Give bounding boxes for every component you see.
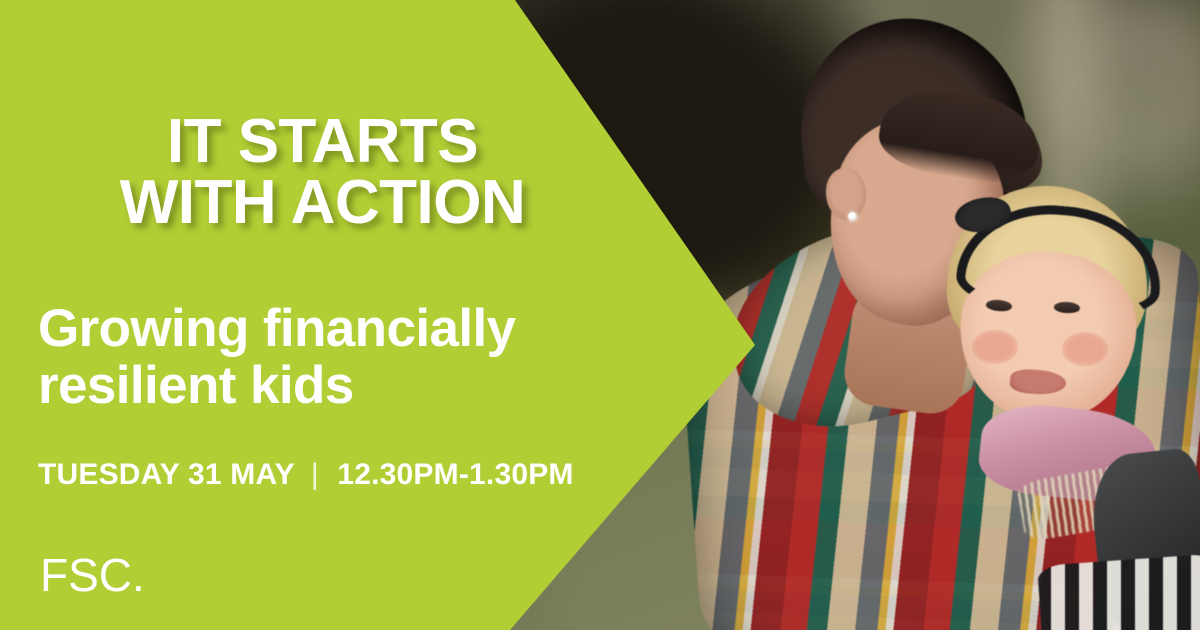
banner-content: IT STARTS WITH ACTION Growing financiall… (0, 0, 645, 630)
headline-line-2: WITH ACTION (0, 173, 645, 234)
event-title: Growing financially resilient kids (38, 300, 638, 414)
campaign-headline: IT STARTS WITH ACTION (0, 112, 645, 234)
event-datetime: TUESDAY 31 MAY | 12.30PM-1.30PM (38, 458, 574, 492)
woman-earring (848, 212, 857, 221)
baby-cheek-left (972, 330, 1018, 364)
headline-line-1: IT STARTS (167, 107, 478, 176)
event-title-line-2: resilient kids (38, 357, 638, 414)
fsc-logo: FSC. (40, 548, 145, 602)
promo-banner: IT STARTS WITH ACTION Growing financiall… (0, 0, 1200, 630)
event-date: TUESDAY 31 MAY (38, 458, 294, 491)
event-title-line-1: Growing financially (38, 299, 515, 358)
datetime-separator: | (311, 458, 319, 492)
baby-cheek-right (1062, 332, 1108, 366)
checked-shirt (1037, 554, 1200, 630)
event-time: 12.30PM-1.30PM (337, 458, 573, 491)
